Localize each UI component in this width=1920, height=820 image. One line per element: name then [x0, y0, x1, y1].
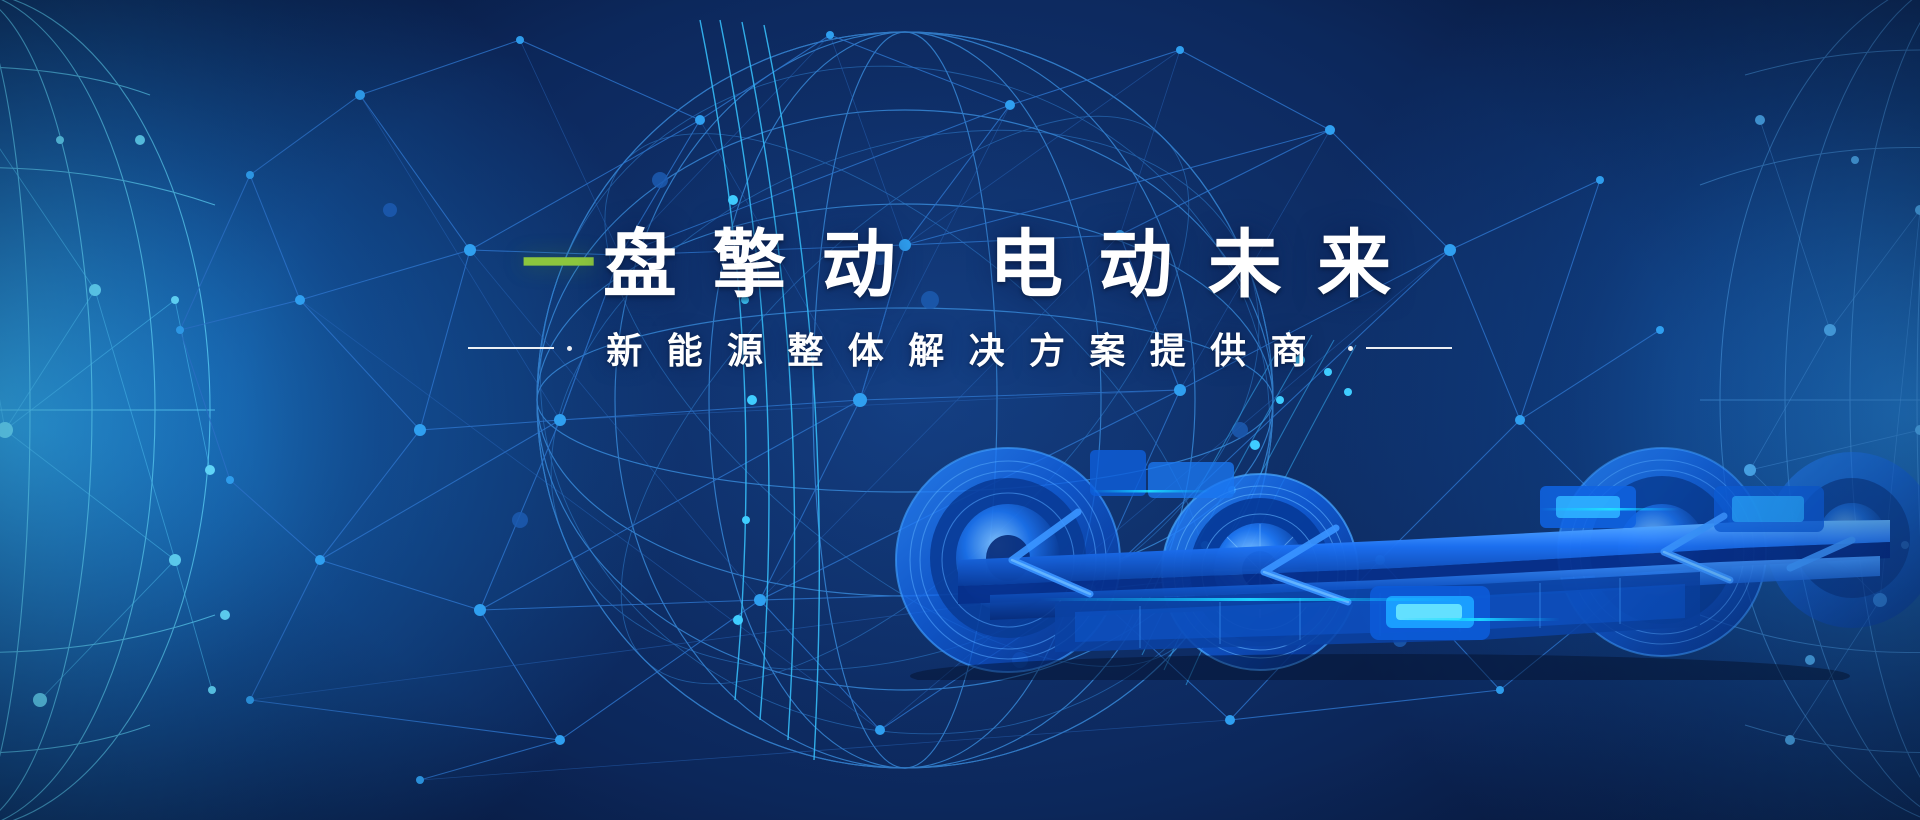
- page-subtitle: 新 能 源 整 体 解 决 方 案 提 供 商: [572, 322, 1348, 374]
- rule-dot-right: [1348, 346, 1353, 351]
- subtitle-left-decoration: [468, 346, 572, 351]
- subtitle-row: 新 能 源 整 体 解 决 方 案 提 供 商: [468, 322, 1452, 374]
- hero-copy: 一 盘 擎 动 电 动 未 来 新 能 源 整 体 解 决 方 案 提 供 商: [0, 228, 1920, 374]
- rule-line-right: [1366, 347, 1452, 349]
- light-strands-graphic: [0, 0, 1920, 820]
- left-globe-graphic: [0, 0, 1920, 820]
- headline-segment-two: 电 动 未 来: [989, 228, 1398, 302]
- vignette-overlay: [0, 0, 1920, 820]
- network-mesh-graphic: [0, 0, 1920, 820]
- page-title: 一 盘 擎 动 电 动 未 来: [521, 228, 1398, 302]
- banner-hero: 一 盘 擎 动 电 动 未 来 新 能 源 整 体 解 决 方 案 提 供 商: [0, 0, 1920, 820]
- subtitle-right-decoration: [1348, 346, 1452, 351]
- headline-segment-one: 盘 擎 动: [603, 228, 903, 302]
- rule-dot-left: [567, 346, 572, 351]
- headline-accent-char: 一: [521, 228, 602, 302]
- center-globe-graphic: [0, 0, 1920, 820]
- ev-chassis-graphic: [840, 390, 1920, 680]
- rule-line-left: [468, 347, 554, 349]
